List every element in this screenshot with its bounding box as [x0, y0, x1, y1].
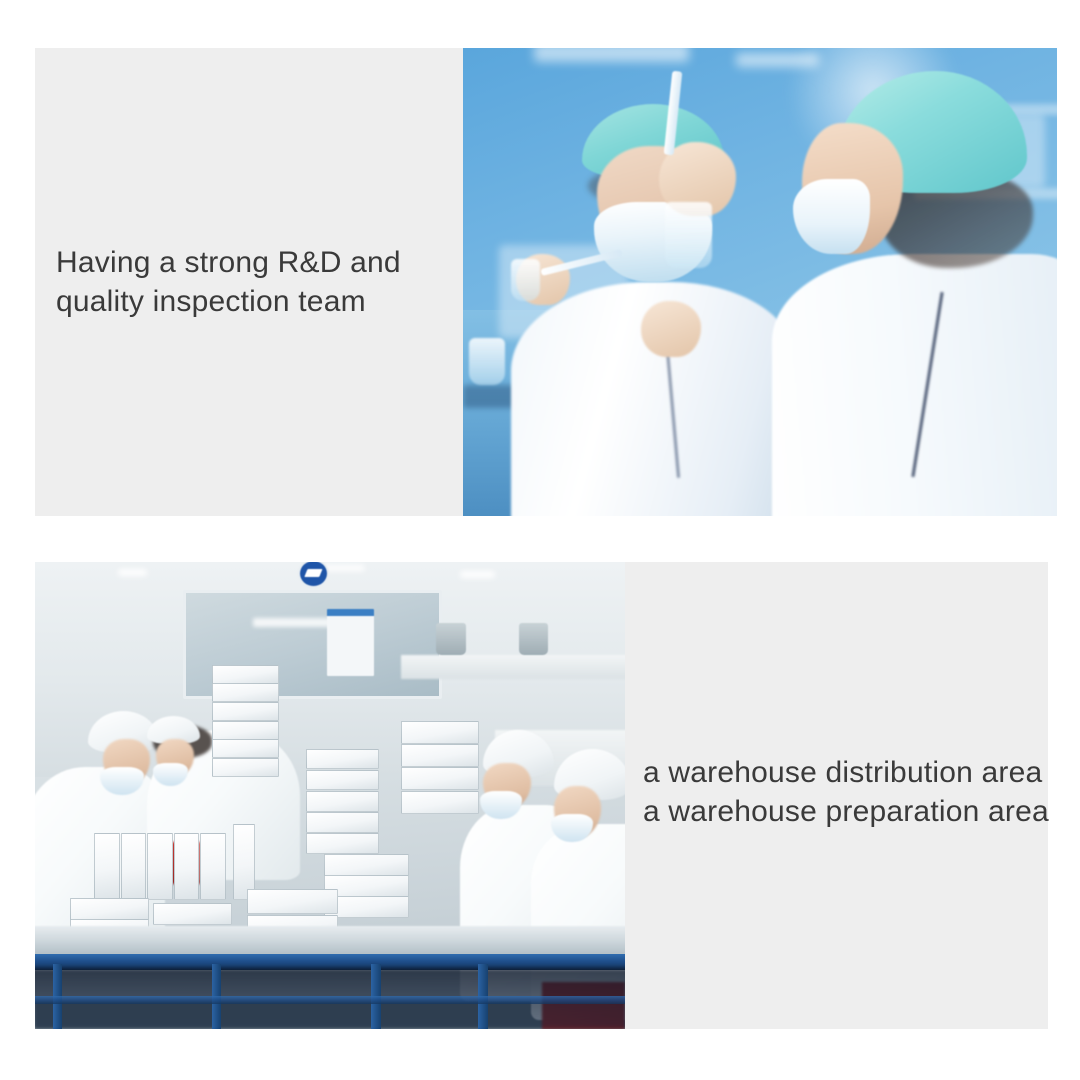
carton-flat-front-4 [247, 889, 338, 914]
carton-tower-b-5 [306, 833, 379, 854]
lab-beaker-bench [469, 338, 505, 385]
carton-tower-c-1 [324, 854, 409, 877]
carton-upright-2 [121, 833, 147, 900]
lab-lower-hand [641, 301, 700, 357]
carton-upright-4 [174, 833, 200, 900]
lab-worker-right-coat [772, 254, 1057, 516]
carton-tower-b-2 [306, 770, 379, 791]
lab-ceiling-light-1 [534, 48, 688, 62]
cleanroom-steel-pot-1 [436, 623, 466, 656]
steel-table-top [35, 926, 625, 956]
carton-tower-b-3 [306, 791, 379, 812]
carton-flat-front-3 [153, 903, 232, 926]
carton-upright-3 [147, 833, 173, 900]
rnd-quality-caption: Having a strong R&D and quality inspecti… [56, 243, 456, 321]
carton-tower-b-1 [306, 749, 379, 770]
warehouse-caption-line-1: a warehouse distribution area [643, 753, 1043, 792]
carton-stack-bg-2 [401, 744, 480, 767]
carton-tower-a-4 [212, 721, 279, 740]
warehouse-caption: a warehouse distribution area a warehous… [643, 753, 1043, 831]
steel-table-cross-brace [35, 996, 625, 1003]
carton-tower-a-3 [212, 702, 279, 721]
cleanroom-ceiling-light-1 [118, 569, 148, 576]
warehouse-packing-photo [35, 562, 625, 1029]
lab-beaker-held [665, 202, 713, 268]
carton-tower-a-2 [212, 683, 279, 702]
rnd-quality-caption-line-1: Having a strong R&D and [56, 243, 456, 282]
rnd-quality-caption-line-2: quality inspection team [56, 282, 456, 321]
carton-upright-1 [94, 833, 120, 900]
cleanroom-back-counter [401, 655, 625, 678]
carton-tower-a-6 [212, 758, 279, 777]
carton-upright-5 [200, 833, 226, 900]
carton-tower-b-4 [306, 812, 379, 833]
cleanroom-ceiling-light-3 [460, 571, 495, 578]
cleanroom-notice-board [327, 609, 374, 677]
carton-stack-bg-4 [401, 791, 480, 814]
carton-stack-bg-3 [401, 767, 480, 790]
warehouse-caption-line-2: a warehouse preparation area [643, 792, 1043, 831]
carton-stack-bg-1 [401, 721, 480, 744]
lab-quality-inspection-photo [463, 48, 1057, 516]
carton-flat-front-1 [70, 898, 149, 921]
carton-tower-a-1 [212, 665, 279, 684]
cleanroom-steel-pot-2 [519, 623, 549, 656]
lab-vial-left [511, 259, 541, 301]
carton-tower-a-5 [212, 739, 279, 758]
